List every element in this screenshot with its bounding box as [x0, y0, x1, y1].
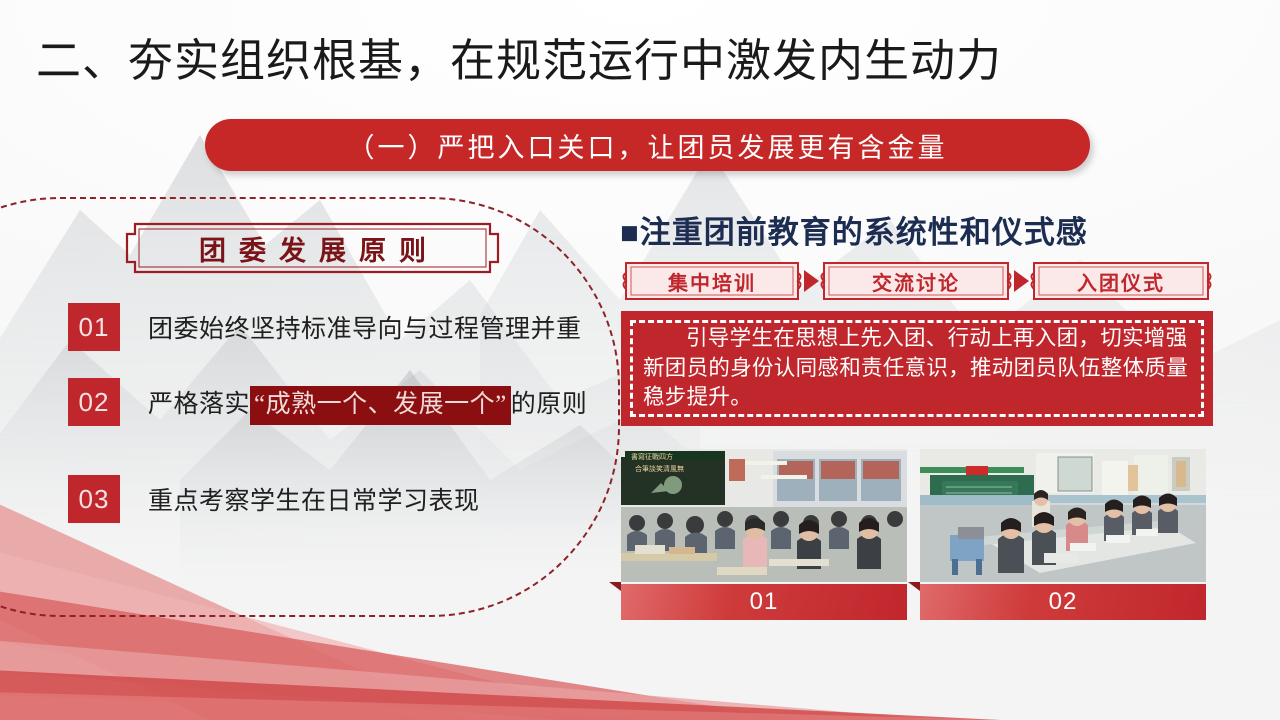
- process-step[interactable]: 集中培训: [621, 261, 803, 301]
- right-panel-heading: ■注重团前教育的系统性和仪式感: [620, 207, 1088, 252]
- list-item-text: 团委始终坚持标准导向与过程管理并重: [148, 309, 582, 345]
- section-banner-label: （一）严把入口关口，让团员发展更有含金量: [348, 126, 948, 165]
- list-item-highlight: “成熟一个、发展一个”: [250, 386, 511, 425]
- left-panel-heading: 团委发展原则: [125, 222, 500, 274]
- square-bullet-icon: ■: [620, 215, 640, 250]
- photo-caption: 01: [621, 584, 907, 620]
- process-step[interactable]: 入团仪式: [1029, 261, 1213, 301]
- list-item: 03 重点考察学生在日常学习表现: [68, 475, 480, 523]
- caption-notch: [609, 582, 621, 591]
- note-box: 引导学生在思想上先入团、行动上再入团，切实增强新团员的身份认同感和责任意识，推动…: [621, 311, 1213, 426]
- list-item: 02 严格落实“成熟一个、发展一个”的原则: [68, 378, 587, 426]
- process-step-label: 交流讨论: [872, 267, 960, 296]
- note-box-text: 引导学生在思想上先入团、行动上再入团，切实增强新团员的身份认同感和责任意识，推动…: [633, 324, 1201, 413]
- slide-root: 二、夯实组织根基，在规范运行中激发内生动力 （一）严把入口关口，让团员发展更有含…: [0, 0, 1280, 720]
- process-arrow-icon: [803, 261, 819, 301]
- list-item-text-before: 严格落实: [148, 391, 250, 418]
- svg-text:合筆談笑清風無: 合筆談笑清風無: [635, 464, 684, 473]
- caption-notch: [908, 582, 920, 591]
- photo-classroom-students: 書寫征戰四方 合筆談笑清風無: [621, 449, 907, 582]
- left-panel-heading-frame: 团委发展原则: [125, 222, 500, 274]
- list-item-text: 严格落实“成熟一个、发展一个”的原则: [148, 384, 587, 420]
- svg-text:書寫征戰四方: 書寫征戰四方: [631, 452, 673, 461]
- process-flow: 集中培训 交流讨论 入团仪式: [621, 261, 1213, 301]
- photo-caption: 02: [920, 584, 1206, 620]
- right-panel-heading-label: 注重团前教育的系统性和仪式感: [640, 215, 1088, 250]
- photo-classroom-meeting: [920, 449, 1206, 582]
- process-arrow-icon: [1013, 261, 1029, 301]
- list-item-badge: 03: [68, 475, 120, 523]
- page-title: 二、夯实组织根基，在规范运行中激发内生动力: [36, 24, 1002, 89]
- process-step[interactable]: 交流讨论: [819, 261, 1013, 301]
- list-item-text-after: 的原则: [511, 391, 588, 418]
- process-step-label: 入团仪式: [1077, 267, 1165, 296]
- list-item-badge: 02: [68, 378, 120, 426]
- note-box-dashed-border: 引导学生在思想上先入团、行动上再入团，切实增强新团员的身份认同感和责任意识，推动…: [630, 320, 1204, 417]
- list-item-text: 重点考察学生在日常学习表现: [148, 481, 480, 517]
- section-banner: （一）严把入口关口，让团员发展更有含金量: [205, 119, 1090, 171]
- list-item-badge: 01: [68, 303, 120, 351]
- process-step-label: 集中培训: [668, 267, 756, 296]
- list-item: 01 团委始终坚持标准导向与过程管理并重: [68, 303, 582, 351]
